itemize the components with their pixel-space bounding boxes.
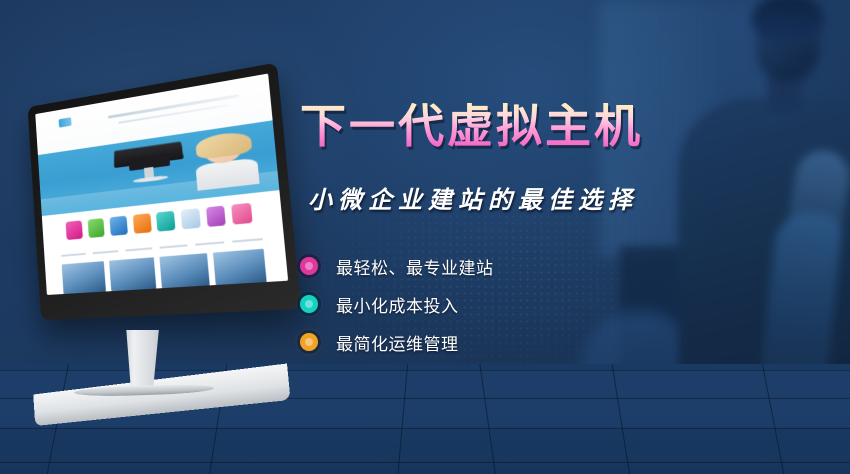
website-label-placeholder — [93, 250, 118, 254]
website-label-placeholder — [233, 238, 263, 243]
feature-item: 最小化成本投入 — [300, 285, 620, 323]
website-icon — [66, 221, 83, 240]
page-subtitle: 小微企业建站的最佳选择 — [308, 180, 638, 215]
bullet-dot-orange — [300, 333, 318, 351]
hero-device-base — [133, 175, 169, 184]
website-icon — [88, 218, 105, 238]
website-thumbnail — [109, 258, 156, 292]
website-icon — [206, 206, 226, 227]
website-label-placeholder — [195, 241, 224, 245]
person-hair — [752, 0, 824, 42]
feature-item: 最简化运维管理 — [300, 323, 620, 361]
website-label-placeholder — [126, 247, 152, 251]
page-title: 下一代虚拟主机 — [300, 103, 643, 149]
floor-line-horizontal — [0, 462, 850, 463]
website-icon — [156, 211, 175, 231]
website-icon — [231, 203, 252, 224]
feature-label: 最轻松、最专业建站 — [336, 254, 494, 279]
website-nav-placeholder — [118, 104, 229, 124]
floor-line-horizontal — [0, 428, 850, 429]
website-icon — [110, 216, 128, 236]
hero-person-hair — [195, 130, 253, 160]
hero-device-graphic — [109, 138, 192, 189]
bullet-dot-magenta — [300, 257, 318, 275]
monitor-screen — [35, 74, 288, 296]
feature-label: 最简化运维管理 — [336, 330, 459, 355]
monitor-bezel — [28, 63, 301, 321]
website-nav-placeholder — [109, 95, 239, 119]
website-thumbnail — [160, 254, 210, 289]
website-icon — [181, 209, 201, 230]
website-logo-icon — [59, 117, 72, 127]
website-thumbnail — [213, 249, 266, 285]
website-icon — [133, 214, 152, 234]
website-label-placeholder — [160, 244, 187, 248]
feature-list: 最轻松、最专业建站 最小化成本投入 最简化运维管理 — [300, 247, 620, 361]
hero-person-body — [196, 158, 260, 191]
feature-item: 最轻松、最专业建站 — [300, 247, 620, 285]
promo-banner: 下一代虚拟主机 小微企业建站的最佳选择 最轻松、最专业建站 最小化成本投入 最简… — [0, 0, 850, 474]
feature-label: 最小化成本投入 — [336, 292, 459, 317]
person-silhouette-right — [640, 0, 850, 400]
hero-person-photo — [191, 129, 263, 191]
website-label-placeholder — [61, 253, 85, 257]
imac-display — [8, 84, 298, 414]
website-thumbnail — [62, 262, 106, 295]
bullet-dot-cyan — [300, 295, 318, 313]
hero-person-face — [203, 135, 242, 165]
